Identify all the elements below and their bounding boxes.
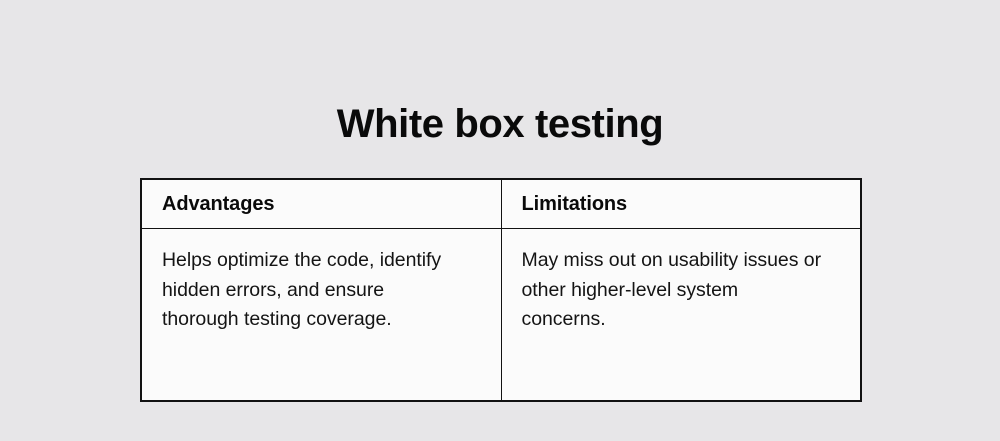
table-header-row: Advantages Limitations — [141, 179, 861, 229]
comparison-table: Advantages Limitations Helps optimize th… — [140, 178, 862, 402]
column-header-advantages: Advantages — [141, 179, 501, 229]
cell-limitations-text: May miss out on usability issues or othe… — [522, 246, 822, 335]
column-header-limitations: Limitations — [501, 179, 861, 229]
table-header: Advantages Limitations — [141, 179, 861, 229]
page-title: White box testing — [0, 100, 1000, 148]
cell-limitations: May miss out on usability issues or othe… — [501, 229, 861, 402]
cell-advantages-text: Helps optimize the code, identify hidden… — [162, 246, 452, 335]
page-root: White box testing Advantages Limitations… — [0, 0, 1000, 441]
table-body: Helps optimize the code, identify hidden… — [141, 229, 861, 402]
table-row: Helps optimize the code, identify hidden… — [141, 229, 861, 402]
cell-advantages: Helps optimize the code, identify hidden… — [141, 229, 501, 402]
